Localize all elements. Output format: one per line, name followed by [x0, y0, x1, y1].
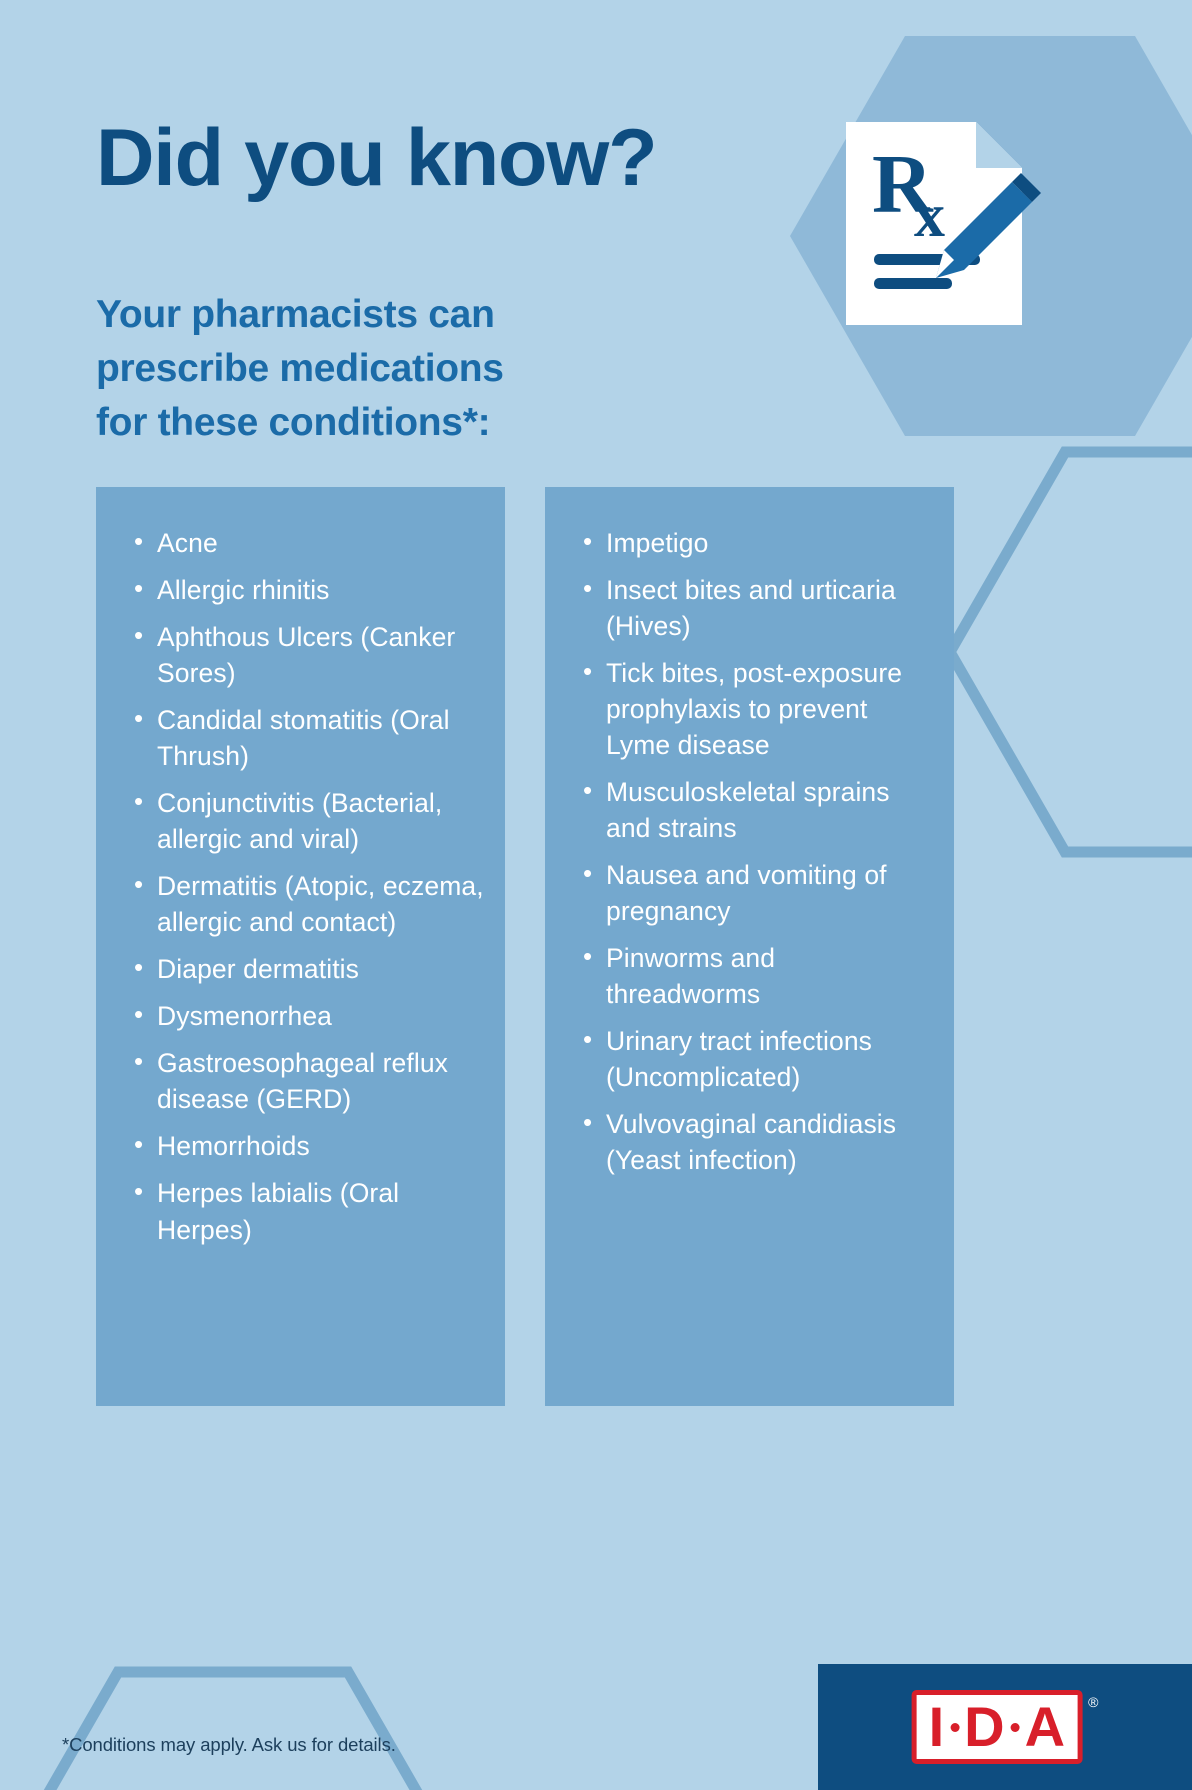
condition-list-item: Insect bites and urticaria (Hives) [583, 572, 936, 644]
condition-list-item: Nausea and vomiting of pregnancy [583, 857, 936, 929]
ida-logo: I D A ® [818, 1664, 1192, 1790]
condition-list-item: Diaper dermatitis [134, 951, 487, 987]
condition-list-item: Allergic rhinitis [134, 572, 487, 608]
condition-list-item: Dermatitis (Atopic, eczema, allergic and… [134, 868, 487, 940]
registered-trademark-mark: ® [1088, 1694, 1098, 1710]
condition-list-item: Tick bites, post-exposure prophylaxis to… [583, 655, 936, 763]
subheading-line-3: for these conditions*: [96, 396, 504, 450]
condition-list-item: Acne [134, 525, 487, 561]
condition-list-item: Herpes labialis (Oral Herpes) [134, 1175, 487, 1247]
rx-prescription-icon: R x [836, 116, 1046, 331]
subheading: Your pharmacists can prescribe medicatio… [96, 288, 504, 449]
hexagon-outline-bottom-left [3, 1672, 463, 1790]
condition-list-item: Musculoskeletal sprains and strains [583, 774, 936, 846]
page-title: Did you know? [96, 118, 656, 199]
conditions-panel-right: ImpetigoInsect bites and urticaria (Hive… [545, 487, 954, 1406]
subheading-line-2: prescribe medications [96, 342, 504, 396]
footnote-disclaimer: *Conditions may apply. Ask us for detail… [62, 1734, 396, 1756]
condition-list-item: Candidal stomatitis (Oral Thrush) [134, 702, 487, 774]
ida-logo-letters: I D A [912, 1690, 1083, 1764]
logo-dot-2 [1011, 1723, 1020, 1732]
condition-list-item: Dysmenorrhea [134, 998, 487, 1034]
logo-letter-i: I [929, 1699, 946, 1755]
conditions-panel-left: AcneAllergic rhinitisAphthous Ulcers (Ca… [96, 487, 505, 1406]
svg-text:x: x [914, 182, 945, 250]
conditions-list-right: ImpetigoInsect bites and urticaria (Hive… [545, 487, 954, 1179]
logo-letter-a: A [1025, 1699, 1066, 1755]
condition-list-item: Urinary tract infections (Uncomplicated) [583, 1023, 936, 1095]
subheading-line-1: Your pharmacists can [96, 288, 504, 342]
condition-list-item: Impetigo [583, 525, 936, 561]
condition-list-item: Hemorrhoids [134, 1128, 487, 1164]
conditions-list-left: AcneAllergic rhinitisAphthous Ulcers (Ca… [96, 487, 505, 1248]
condition-list-item: Gastroesophageal reflux disease (GERD) [134, 1045, 487, 1117]
condition-list-item: Pinworms and threadworms [583, 940, 936, 1012]
condition-list-item: Vulvovaginal candidiasis (Yeast infectio… [583, 1106, 936, 1178]
condition-list-item: Conjunctivitis (Bacterial, allergic and … [134, 785, 487, 857]
logo-dot-1 [950, 1723, 959, 1732]
condition-list-item: Aphthous Ulcers (Canker Sores) [134, 619, 487, 691]
hexagon-outline-right [950, 452, 1192, 852]
logo-letter-d: D [964, 1699, 1005, 1755]
